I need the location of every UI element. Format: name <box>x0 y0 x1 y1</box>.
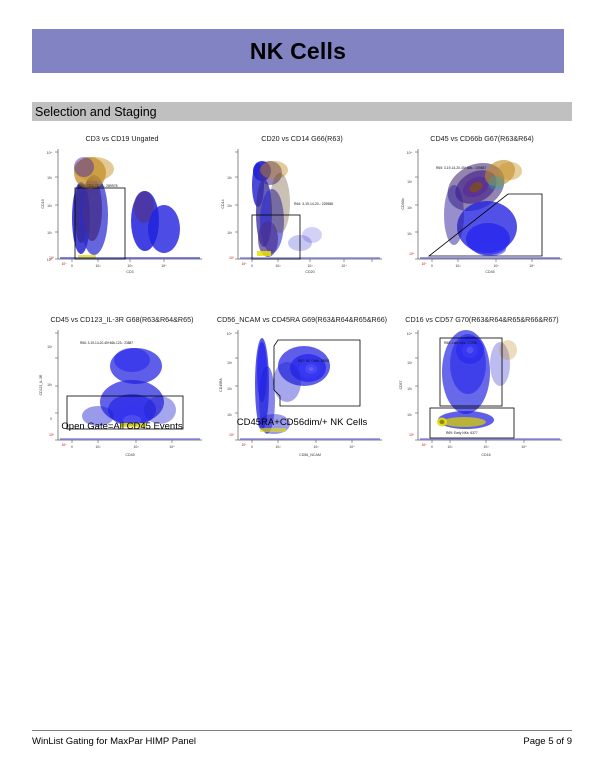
svg-text:10³: 10³ <box>308 264 314 268</box>
annotation-line-1: CD45RA+CD56dim/+ NK Cells <box>212 417 392 428</box>
svg-text:10³: 10³ <box>484 445 490 449</box>
svg-text:0: 0 <box>251 445 253 449</box>
annotation-line-1: Open Gate=All CD45 Events <box>32 421 212 432</box>
svg-text:10⁴: 10⁴ <box>161 264 167 268</box>
scatter-events <box>420 330 560 440</box>
plot-cd16-vs-cd57: CD16 vs CD57 G70(R63&R64&R65&R66&R67) <box>392 315 572 465</box>
svg-text:10⁴: 10⁴ <box>47 151 53 155</box>
svg-text:10⁰: 10⁰ <box>229 433 235 437</box>
page-title: NK Cells <box>250 38 346 65</box>
svg-text:10⁴: 10⁴ <box>407 151 413 155</box>
svg-text:10³: 10³ <box>407 361 413 365</box>
axes: 10⁰10¹ 10²10³ 10⁴ 010² 10³10⁴ 10⁰ 10⁰ <box>47 149 202 268</box>
plot-cd20-vs-cd14: CD20 vs CD14 G66(R63) <box>212 134 392 284</box>
svg-text:10⁰: 10⁰ <box>242 443 248 447</box>
svg-text:10⁰: 10⁰ <box>409 433 415 437</box>
footer-divider <box>32 730 572 731</box>
plot-grid: CD3 vs CD19 Ungated <box>32 134 572 465</box>
plot-canvas: 10⁴10³ 10²10¹ 010² 10³10⁴ 10⁰ 10⁰ <box>392 324 572 464</box>
svg-text:10⁴: 10⁴ <box>407 332 413 336</box>
svg-text:10⁰: 10⁰ <box>422 262 428 266</box>
section-heading-bar: Selection and Staging <box>32 102 572 121</box>
svg-text:10²: 10² <box>47 204 53 208</box>
gate-label: R66: 3-19-14-20-45+66b-123-: 23887 <box>80 341 133 345</box>
gate-label: R64: 3-19-14-20-: 225988 <box>294 202 333 206</box>
y-axis-label: CD57 <box>399 381 403 390</box>
svg-text:10⁰: 10⁰ <box>242 262 248 266</box>
plot-title: CD45 vs CD123_IL-3R G68(R63&R64&R65) <box>32 315 212 324</box>
y-axis-label: CD45RA <box>219 378 223 392</box>
svg-text:10⁰: 10⁰ <box>62 443 68 447</box>
svg-text:10²: 10² <box>456 264 462 268</box>
gate-label: R65: 3-19-14-20-45+66b-: 109887 <box>436 166 486 170</box>
svg-text:0: 0 <box>251 264 253 268</box>
svg-text:10²: 10² <box>96 445 102 449</box>
plot-cd45-vs-cd123: CD45 vs CD123_IL-3R G68(R63&R64&R65) <box>32 315 212 465</box>
footer-page-number: Page 5 of 9 <box>523 736 572 747</box>
plot-cd56-vs-cd45ra: CD56_NCAM vs CD45RA G69(R63&R64&R65&R66) <box>212 315 392 465</box>
plot-canvas: 10³10² 0 010² 10³10⁴ 10⁰ 10⁰ <box>32 324 212 464</box>
x-axis-label: CD20 <box>305 270 314 274</box>
x-axis-label: CD45 <box>125 453 134 457</box>
y-axis-label: CD19 <box>41 199 45 208</box>
svg-text:10⁴: 10⁴ <box>521 445 527 449</box>
svg-text:10⁴: 10⁴ <box>227 332 233 336</box>
svg-text:10⁴: 10⁴ <box>169 445 175 449</box>
document-page: NK Cells Selection and Staging CD3 vs CD… <box>0 0 604 784</box>
y-axis-label: CD123_IL-3R <box>39 374 43 395</box>
gate-label-late-nks: R68: Late NKs: 17208 <box>444 341 477 345</box>
section-heading-label: Selection and Staging <box>32 105 157 119</box>
svg-text:10³: 10³ <box>227 231 233 235</box>
svg-text:10³: 10³ <box>47 176 53 180</box>
plot-title: CD45 vs CD66b G67(R63&R64) <box>392 134 572 143</box>
svg-text:10⁰: 10⁰ <box>229 256 235 260</box>
svg-text:10²: 10² <box>227 204 233 208</box>
x-axis-label: CD16 <box>481 453 490 457</box>
gate-label: R67: NK Cells: 35891 <box>298 359 330 363</box>
svg-text:10³: 10³ <box>128 264 134 268</box>
footer-left-text: WinList Gating for MaxPar HIMP Panel <box>32 736 196 747</box>
svg-text:10³: 10³ <box>227 361 233 365</box>
svg-text:10⁴: 10⁴ <box>341 264 347 268</box>
svg-text:10²: 10² <box>407 387 413 391</box>
svg-text:10³: 10³ <box>47 345 53 349</box>
plot-canvas: 10⁰10¹ 10²10³ 10⁴ 010² 10³10⁴ 10⁰ 10⁰ <box>32 143 212 283</box>
svg-text:10³: 10³ <box>134 445 140 449</box>
plot-row-2: CD45 vs CD123_IL-3R G68(R63&R64&R65) <box>32 315 572 465</box>
plot-title: CD20 vs CD14 G66(R63) <box>212 134 392 143</box>
svg-text:10³: 10³ <box>314 445 320 449</box>
plot-title: CD16 vs CD57 G70(R63&R64&R65&R66&R67) <box>392 315 572 324</box>
plot-canvas: 10⁴10³ 10²10¹ 010² 10³10⁴ 10⁰ 10⁰ <box>392 143 572 283</box>
scatter-events <box>60 157 200 259</box>
plot-canvas: 10⁴10³ 10²10¹ 010² 10³10⁴ 10⁰ 10⁰ <box>212 324 392 464</box>
svg-text:10²: 10² <box>276 264 282 268</box>
plot-canvas: 10³10² 10¹ 010² 10³10⁴ 10⁰ 10⁰ <box>212 143 392 283</box>
svg-text:10⁴: 10⁴ <box>529 264 535 268</box>
svg-text:10⁴: 10⁴ <box>349 445 355 449</box>
plot-cd45-vs-cd66b: CD45 vs CD66b G67(R63&R64) <box>392 134 572 284</box>
plot-row-1: CD3 vs CD19 Ungated <box>32 134 572 284</box>
svg-text:0: 0 <box>431 445 433 449</box>
svg-text:10¹: 10¹ <box>407 413 413 417</box>
svg-text:10²: 10² <box>47 383 53 387</box>
page-title-banner: NK Cells <box>32 29 564 73</box>
svg-text:10⁰: 10⁰ <box>409 252 415 256</box>
svg-text:10⁰: 10⁰ <box>422 443 428 447</box>
page-footer: WinList Gating for MaxPar HIMP Panel Pag… <box>32 736 572 747</box>
plot-annotation: CD45RA+CD56dim/+ NK Cells <box>212 417 392 428</box>
plot-cd3-vs-cd19: CD3 vs CD19 Ungated <box>32 134 212 284</box>
svg-text:10²: 10² <box>276 445 282 449</box>
y-axis-label: CD66b <box>401 198 405 209</box>
svg-text:10¹: 10¹ <box>407 232 413 236</box>
svg-text:10⁰: 10⁰ <box>49 433 55 437</box>
x-axis-label: CD45 <box>485 270 494 274</box>
plot-title: CD3 vs CD19 Ungated <box>32 134 212 143</box>
gate-label-early-nks: R69: Early NKs: 6377 <box>446 431 478 435</box>
svg-text:10⁰: 10⁰ <box>49 256 55 260</box>
svg-text:10⁰: 10⁰ <box>62 262 68 266</box>
svg-text:10¹: 10¹ <box>47 231 53 235</box>
svg-text:0: 0 <box>71 445 73 449</box>
plot-annotation: Open Gate=All CD45 Events <box>32 421 212 432</box>
svg-text:10²: 10² <box>227 387 233 391</box>
svg-text:10³: 10³ <box>494 264 500 268</box>
svg-text:10²: 10² <box>96 264 102 268</box>
y-axis-label: CD14 <box>221 199 225 208</box>
svg-text:0: 0 <box>71 264 73 268</box>
svg-text:10²: 10² <box>448 445 454 449</box>
gate-label: R63: CD3-CD19-: 289978 <box>78 184 117 188</box>
svg-text:0: 0 <box>431 264 433 268</box>
x-axis-label: CD56_NCAM <box>299 453 321 457</box>
scatter-events <box>240 161 380 259</box>
svg-text:10²: 10² <box>407 206 413 210</box>
svg-text:10¹: 10¹ <box>227 176 233 180</box>
x-axis-label: CD3 <box>126 270 133 274</box>
plot-title: CD56_NCAM vs CD45RA G69(R63&R64&R65&R66) <box>212 315 392 324</box>
svg-text:10³: 10³ <box>407 180 413 184</box>
